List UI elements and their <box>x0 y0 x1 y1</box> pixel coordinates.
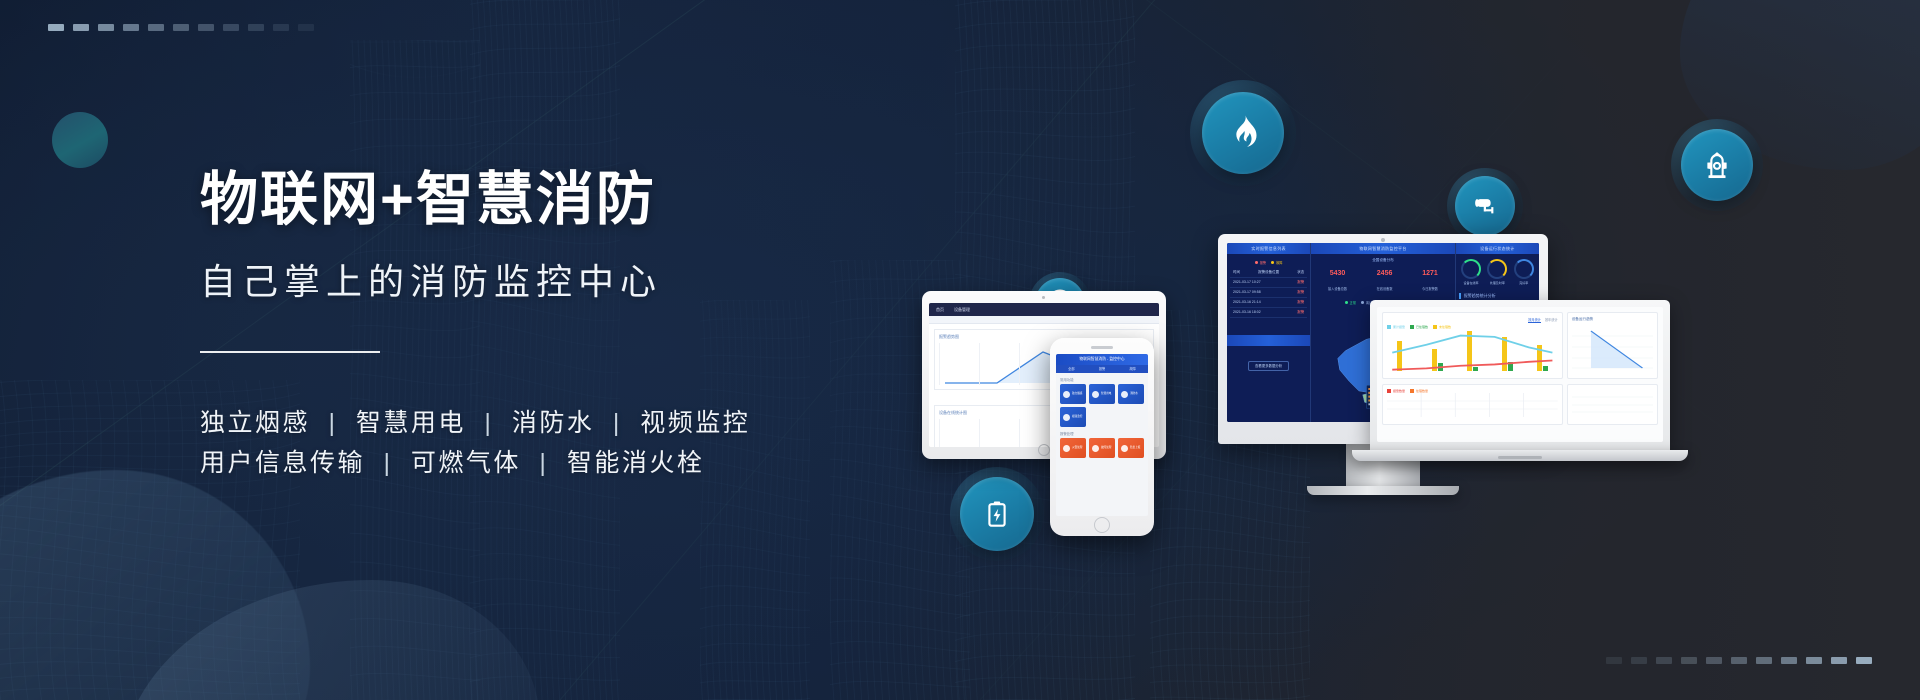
tile-label: 故障处理 <box>1101 446 1111 449</box>
cctv-camera-icon <box>1470 191 1500 221</box>
feature-separator: | <box>475 409 502 437</box>
col-state: 状态 <box>1297 270 1304 275</box>
tile-label: 隐患上报 <box>1130 446 1140 449</box>
feature-row-1: 独立烟感 | 智慧用电 | 消防水 | 视频监控 <box>200 403 840 444</box>
panel-header-secondary <box>1227 335 1310 346</box>
feature-item: 视频监控 <box>640 409 750 437</box>
table-row[interactable]: 2021-03-16 21:14 报警 <box>1230 298 1307 308</box>
bar-group <box>1387 341 1418 371</box>
feature-item: 可燃气体 <box>411 449 521 477</box>
panel-title: 物联网智慧消防监控平台 <box>1359 246 1406 252</box>
feature-separator: | <box>374 449 401 477</box>
kpi-label: 在线设备数 <box>1377 287 1393 291</box>
phone-tab-fault[interactable]: 故障 <box>1117 365 1148 373</box>
tile-label: 智慧用电 <box>1101 392 1111 395</box>
phone-tile[interactable]: 独立烟感 <box>1060 384 1086 404</box>
feature-separator: | <box>319 409 346 437</box>
page-title: 物联网+智慧消防 <box>200 170 840 231</box>
page-subtitle: 自己掌上的消防监控中心 <box>200 253 840 305</box>
phone-tile-grid-blue: 独立烟感 智慧用电 消防水 视频监控 <box>1056 384 1148 427</box>
gauge-item: 完好率 <box>1514 259 1534 285</box>
laptop-base <box>1352 450 1688 461</box>
legend-normal: 正常 <box>1345 300 1356 305</box>
phone-home-button[interactable] <box>1094 517 1110 533</box>
dashboard-more-button[interactable]: 查看更多数据分析 <box>1248 361 1289 371</box>
tile-label: 视频监控 <box>1072 415 1082 418</box>
laptop-device: 按月统计 按年统计 累计报警 已处理数 未处理数 <box>1370 300 1670 461</box>
kpi-label: 接入设备总数 <box>1328 287 1347 291</box>
phone-tile[interactable]: 视频监控 <box>1060 407 1086 427</box>
badge-core <box>1455 176 1515 236</box>
tablet-subbar <box>929 316 1159 324</box>
alerts-legend: 报警 故障 <box>1230 257 1307 268</box>
bar-group <box>1527 345 1558 371</box>
cell-state: 报警 <box>1297 290 1304 295</box>
laptop-card-bar-chart: 按月统计 按年统计 累计报警 已处理数 未处理数 <box>1382 312 1563 379</box>
cell-state: 报警 <box>1297 280 1304 285</box>
kpi-value: 2456 <box>1377 270 1393 277</box>
gauge-label: 处理及时率 <box>1487 281 1507 285</box>
phone-tile[interactable]: 火警处理 <box>1060 438 1086 458</box>
badge-camera[interactable] <box>1447 168 1523 244</box>
phone-tile[interactable]: 智慧用电 <box>1089 384 1115 404</box>
tablet-camera <box>1042 296 1045 299</box>
gauge-item: 处理及时率 <box>1487 259 1507 285</box>
laptop-card-table: 报警数量 处理数量 <box>1382 384 1563 425</box>
gear-icon <box>1092 445 1099 452</box>
table-header: 时间 报警设备位置 状态 <box>1230 268 1307 278</box>
kpi-item: 5430 接入设备总数 <box>1328 270 1347 295</box>
smartphone-device: 物联网智慧消防 - 监控中心 全部 报警 故障 常用功能 独立烟感 智慧用电 <box>1050 338 1154 536</box>
gear-icon <box>1121 445 1128 452</box>
dash-row-bottom-right <box>1606 657 1872 664</box>
cell-state: 报警 <box>1297 300 1304 305</box>
map-title: 全国设备分布 <box>1311 254 1455 264</box>
phone-speaker <box>1091 346 1113 349</box>
bar-group <box>1422 349 1453 371</box>
laptop-card-title: 设备运行趋势 <box>1572 317 1653 322</box>
gauge-label: 设备在线率 <box>1461 281 1481 285</box>
col-time: 时间 <box>1233 270 1240 275</box>
laptop-bar-chart <box>1387 329 1558 371</box>
phone-section-title: 常用功能 <box>1060 377 1148 382</box>
phone-title: 物联网智慧消防 - 监控中心 <box>1079 357 1124 362</box>
badge-flame[interactable] <box>1190 80 1296 186</box>
monitor-foot <box>1307 486 1459 495</box>
gauge-row: 设备在线率 处理及时率 完好率 <box>1456 254 1539 290</box>
gauge-item: 设备在线率 <box>1461 259 1481 285</box>
gear-icon <box>1063 414 1070 421</box>
hero-banner: 物联网+智慧消防 自己掌上的消防监控中心 独立烟感 | 智慧用电 | 消防水 |… <box>0 0 1920 700</box>
tab-yearly[interactable]: 按年统计 <box>1545 317 1558 323</box>
phone-tab-all[interactable]: 全部 <box>1056 365 1087 373</box>
phone-tile[interactable]: 故障处理 <box>1089 438 1115 458</box>
gear-icon <box>1063 445 1070 452</box>
gauge-ring <box>1514 259 1534 279</box>
badge-core <box>960 477 1034 551</box>
monitor-camera <box>1381 238 1385 242</box>
decorative-circle <box>52 112 108 168</box>
gauge-ring <box>1461 259 1481 279</box>
col-place: 报警设备位置 <box>1258 270 1279 275</box>
gauge-ring <box>1487 259 1507 279</box>
dash-row-top-left <box>48 24 314 31</box>
kpi-value: 1271 <box>1422 270 1438 277</box>
laptop-screen: 按月统计 按年统计 累计报警 已处理数 未处理数 <box>1377 307 1663 442</box>
feature-item: 消防水 <box>512 409 595 437</box>
device-mockup-group: 按月统计 按年统计 累计报警 已处理数 未处理数 <box>1120 280 1800 580</box>
panel-header-main: 物联网智慧消防监控平台 <box>1311 243 1455 254</box>
tile-label: 火警处理 <box>1072 446 1082 449</box>
dashboard-left-column: 实时报警信息列表 报警 故障 时间 报警设备位置 状态 <box>1227 243 1311 422</box>
phone-tile[interactable]: 消防水 <box>1118 384 1144 404</box>
phone-tile-grid-orange: 火警处理 故障处理 隐患上报 <box>1056 438 1148 458</box>
laptop-area-chart <box>1572 325 1653 369</box>
fire-hydrant-icon <box>1700 148 1734 182</box>
feature-separator: | <box>530 449 557 477</box>
cell-state: 报警 <box>1297 310 1304 315</box>
bar-group <box>1492 337 1523 371</box>
flame-icon <box>1223 113 1263 153</box>
badge-hydrant[interactable] <box>1671 119 1763 211</box>
feature-item: 智慧用电 <box>356 409 466 437</box>
phone-tabs[interactable]: 全部 报警 故障 <box>1056 365 1148 373</box>
phone-screen: 物联网智慧消防 - 监控中心 全部 报警 故障 常用功能 独立烟感 智慧用电 <box>1056 354 1148 516</box>
table-row[interactable]: 2021-03-17 09:58 报警 <box>1230 288 1307 298</box>
tab-monthly[interactable]: 按月统计 <box>1528 317 1541 323</box>
panel-header-status: 设备运行状态统计 <box>1456 243 1539 254</box>
phone-tab-alarm[interactable]: 报警 <box>1087 365 1118 373</box>
legend-alarm: 报警 <box>1255 260 1266 265</box>
tile-label: 独立烟感 <box>1072 392 1082 395</box>
kpi-label: 今日报警数 <box>1422 287 1438 291</box>
laptop-table-grid <box>1387 393 1558 417</box>
feature-item: 智能消火栓 <box>567 449 705 477</box>
panel-title: 设备运行状态统计 <box>1480 246 1514 252</box>
tile-label: 消防水 <box>1130 392 1138 395</box>
kpi-row: 5430 接入设备总数 2456 在线设备数 1271 今日报警数 <box>1311 264 1455 297</box>
badge-core <box>1202 92 1284 174</box>
feature-item: 用户信息传输 <box>200 449 365 477</box>
badge-core <box>1681 129 1753 201</box>
legend-fault: 故障 <box>1271 260 1282 265</box>
bar-group <box>1457 331 1488 371</box>
cell-time: 2021-03-16 18:02 <box>1233 310 1261 315</box>
kpi-item: 2456 在线设备数 <box>1377 270 1393 295</box>
battery-bolt-icon <box>981 498 1013 530</box>
chart-title-trend: 报警趋势统计分析 <box>1459 293 1539 299</box>
cell-time: 2021-03-17 09:58 <box>1233 290 1261 295</box>
tablet-nav-item[interactable]: 首页 <box>936 307 944 313</box>
laptop-mini-chart <box>1572 389 1653 413</box>
cell-time: 2021-03-17 10:27 <box>1233 280 1261 285</box>
gear-icon <box>1121 391 1128 398</box>
cell-time: 2021-03-16 21:14 <box>1233 300 1261 305</box>
tablet-nav-item[interactable]: 设备管理 <box>954 307 970 313</box>
gear-icon <box>1063 391 1070 398</box>
tablet-navbar: 首页 设备管理 <box>929 303 1159 316</box>
divider-rule <box>200 351 380 353</box>
laptop-card-area-chart: 设备运行趋势 <box>1567 312 1658 379</box>
feature-list: 独立烟感 | 智慧用电 | 消防水 | 视频监控 用户信息传输 | 可燃气体 |… <box>200 403 840 484</box>
panel-header-alerts: 实时报警信息列表 <box>1227 243 1310 254</box>
table-row[interactable]: 2021-03-16 18:02 报警 <box>1230 308 1307 318</box>
panel-title: 实时报警信息列表 <box>1251 246 1285 252</box>
kpi-value: 5430 <box>1328 270 1347 277</box>
kpi-item: 1271 今日报警数 <box>1422 270 1438 295</box>
hero-copy: 物联网+智慧消防 自己掌上的消防监控中心 独立烟感 | 智慧用电 | 消防水 |… <box>200 170 840 484</box>
laptop-lid: 按月统计 按年统计 累计报警 已处理数 未处理数 <box>1370 300 1670 450</box>
alerts-panel: 报警 故障 时间 报警设备位置 状态 2021-03-17 10:27 <box>1227 254 1310 321</box>
phone-tile[interactable]: 隐患上报 <box>1118 438 1144 458</box>
laptop-chart-tabs[interactable]: 按月统计 按年统计 <box>1387 317 1558 323</box>
laptop-card-mini <box>1567 384 1658 425</box>
phone-appbar: 物联网智慧消防 - 监控中心 <box>1056 354 1148 365</box>
badge-battery[interactable] <box>950 467 1044 561</box>
feature-row-2: 用户信息传输 | 可燃气体 | 智能消火栓 <box>200 443 840 484</box>
table-row[interactable]: 2021-03-17 10:27 报警 <box>1230 278 1307 288</box>
feature-separator: | <box>604 409 631 437</box>
gear-icon <box>1092 391 1099 398</box>
phone-section-title: 报警处理 <box>1060 431 1148 436</box>
feature-item: 独立烟感 <box>200 409 310 437</box>
gauge-label: 完好率 <box>1514 281 1534 285</box>
